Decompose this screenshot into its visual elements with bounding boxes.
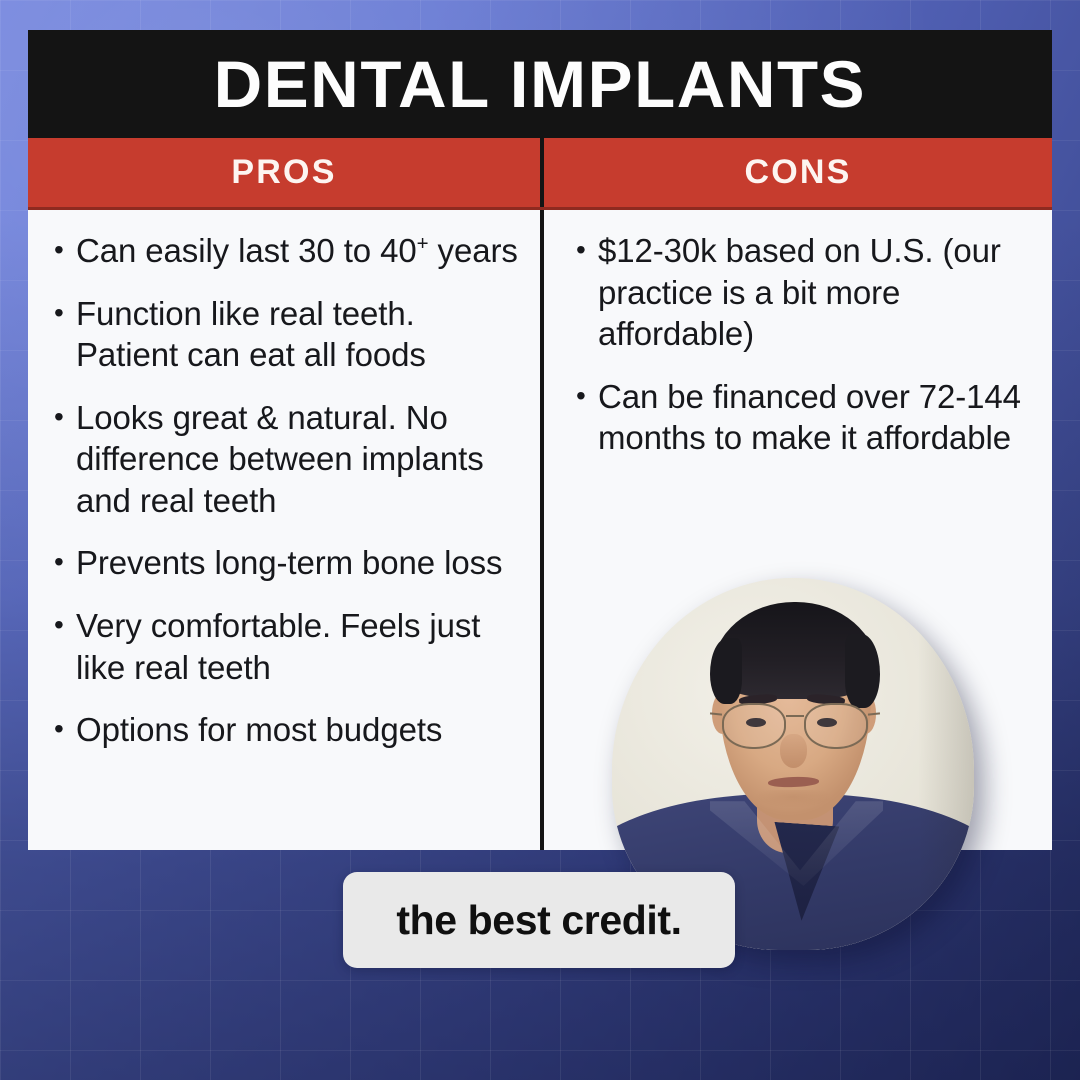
column-header-cons: CONS [544, 138, 1052, 207]
pros-bullet-3-text: Looks great & natural. No difference bet… [76, 397, 522, 522]
column-header-row: PROS CONS [28, 138, 1052, 210]
hair-side-left [710, 638, 743, 705]
portrait-shadow [894, 578, 974, 950]
column-header-pros-label: PROS [231, 153, 336, 192]
pros-bullet-4-text: Prevents long-term bone loss [76, 542, 522, 584]
list-item: • Function like real teeth. Patient can … [54, 293, 522, 376]
bullet-dot-icon: • [54, 293, 76, 376]
cons-bullet-2-text: Can be financed over 72-144 months to ma… [598, 376, 1032, 459]
pros-bullet-2-text: Function like real teeth. Patient can ea… [76, 293, 522, 376]
list-item: • Options for most budgets [54, 709, 522, 751]
list-item: • Very comfortable. Feels just like real… [54, 605, 522, 688]
column-header-cons-label: CONS [744, 153, 851, 192]
nose [780, 734, 807, 767]
list-item: • Looks great & natural. No difference b… [54, 397, 522, 522]
bullet-dot-icon: • [576, 376, 598, 459]
caption-pill: the best credit. [343, 872, 735, 968]
chin-shading [750, 790, 837, 812]
superscript-plus: + [417, 232, 429, 255]
bullet-dot-icon: • [54, 230, 76, 272]
page-title: DENTAL IMPLANTS [214, 46, 866, 122]
lens-left [722, 703, 786, 750]
bullet-dot-icon: • [54, 709, 76, 751]
column-header-pros: PROS [28, 138, 540, 207]
pros-bullet-1-text: Can easily last 30 to 40+ years [76, 230, 522, 272]
card-title-bar: DENTAL IMPLANTS [28, 30, 1052, 138]
list-item: • $12-30k based on U.S. (our practice is… [576, 230, 1032, 355]
bullet-dot-icon: • [576, 230, 598, 355]
glasses-bridge [786, 715, 804, 717]
bullet-dot-icon: • [54, 397, 76, 522]
cons-bullet-list: • $12-30k based on U.S. (our practice is… [576, 230, 1032, 459]
list-item: • Prevents long-term bone loss [54, 542, 522, 584]
pros-bullet-5-text: Very comfortable. Feels just like real t… [76, 605, 522, 688]
bullet-dot-icon: • [54, 605, 76, 688]
pros-bullet-6-text: Options for most budgets [76, 709, 522, 751]
cons-bullet-1-text: $12-30k based on U.S. (our practice is a… [598, 230, 1032, 355]
caption-text: the best credit. [396, 897, 681, 944]
lens-right [804, 703, 868, 750]
bullet-dot-icon: • [54, 542, 76, 584]
list-item: • Can be financed over 72-144 months to … [576, 376, 1032, 459]
list-item: • Can easily last 30 to 40+ years [54, 230, 522, 272]
pros-bullet-list: • Can easily last 30 to 40+ years • Func… [54, 230, 522, 751]
pros-column: • Can easily last 30 to 40+ years • Func… [28, 210, 540, 850]
